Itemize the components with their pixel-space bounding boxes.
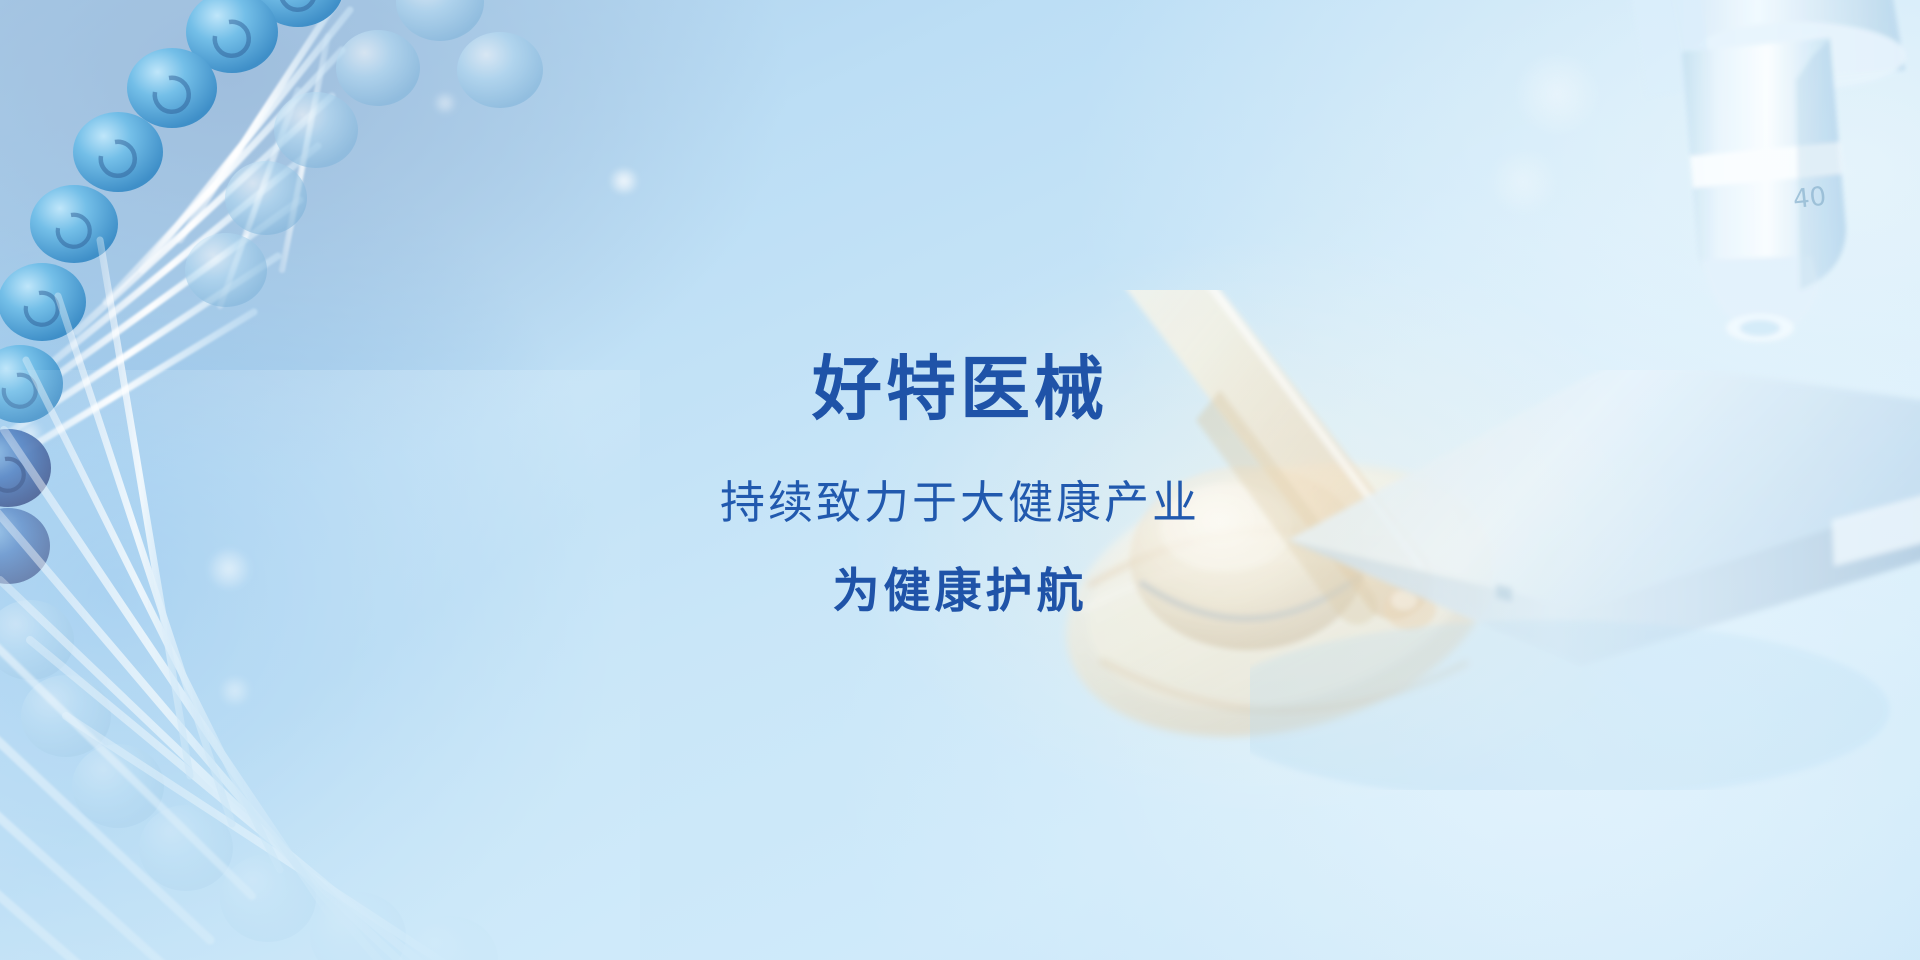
background-gradient bbox=[0, 0, 1920, 960]
hero-banner: 40 bbox=[0, 0, 1920, 960]
